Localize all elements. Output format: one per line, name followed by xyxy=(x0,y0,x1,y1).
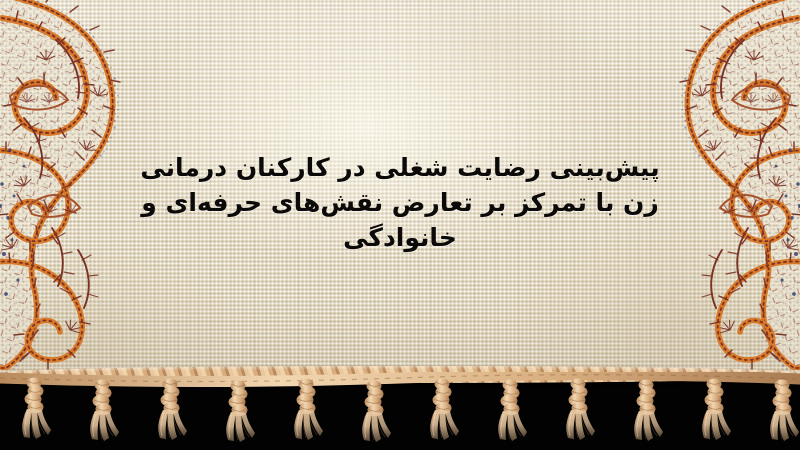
presentation-title: پیش‌بینی رضایت شغلی در کارکنان درمانی زن… xyxy=(0,150,800,255)
title-slide: پیش‌بینی رضایت شغلی در کارکنان درمانی زن… xyxy=(0,0,800,450)
black-background-field xyxy=(0,376,800,450)
title-line-3: خانوادگی xyxy=(0,220,800,255)
title-line-2: زن با تمرکز بر تعارض نقش‌های حرفه‌ای و xyxy=(0,185,800,220)
braided-cord-edge xyxy=(0,366,800,383)
title-line-1: پیش‌بینی رضایت شغلی در کارکنان درمانی xyxy=(0,150,800,185)
